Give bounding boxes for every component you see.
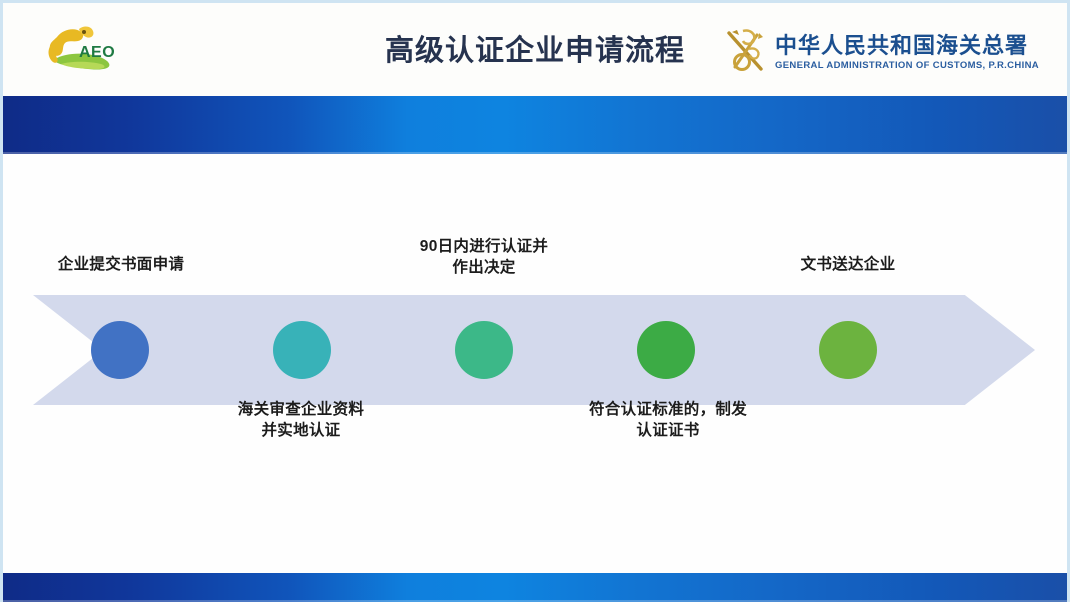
process-step-label-2: 海关审查企业资料 并实地认证 (238, 399, 364, 441)
customs-logo-chinese: 中华人民共和国海关总署 (775, 33, 1039, 59)
header-accent-bar (3, 96, 1067, 154)
customs-logo: 中华人民共和国海关总署 GENERAL ADMINISTRATION OF CU… (723, 25, 1039, 79)
process-step-circle-1[interactable] (91, 321, 149, 379)
process-step-circle-2[interactable] (273, 321, 331, 379)
process-step-label-3: 90日内进行认证并 作出决定 (420, 236, 548, 278)
slide-header: AEO 高级认证企业申请流程 中华人民共和国海关总署 GENERAL ADMIN… (3, 3, 1067, 96)
process-step-label-4: 符合认证标准的，制发 认证证书 (589, 399, 747, 441)
process-diagram: 企业提交书面申请海关审查企业资料 并实地认证90日内进行认证并 作出决定符合认证… (3, 154, 1067, 573)
process-step-circle-4[interactable] (637, 321, 695, 379)
process-step-circle-5[interactable] (819, 321, 877, 379)
process-arrow-band (33, 295, 1035, 405)
process-step-label-1: 企业提交书面申请 (58, 254, 184, 275)
slide-canvas: AEO 高级认证企业申请流程 中华人民共和国海关总署 GENERAL ADMIN… (0, 0, 1070, 602)
process-step-label-5: 文书送达企业 (801, 254, 896, 275)
customs-logo-english: GENERAL ADMINISTRATION OF CUSTOMS, P.R.C… (775, 59, 1039, 72)
footer-accent-bar (3, 573, 1067, 602)
customs-logo-text: 中华人民共和国海关总署 GENERAL ADMINISTRATION OF CU… (775, 33, 1039, 72)
customs-caduceus-icon (723, 27, 769, 77)
process-step-circle-3[interactable] (455, 321, 513, 379)
